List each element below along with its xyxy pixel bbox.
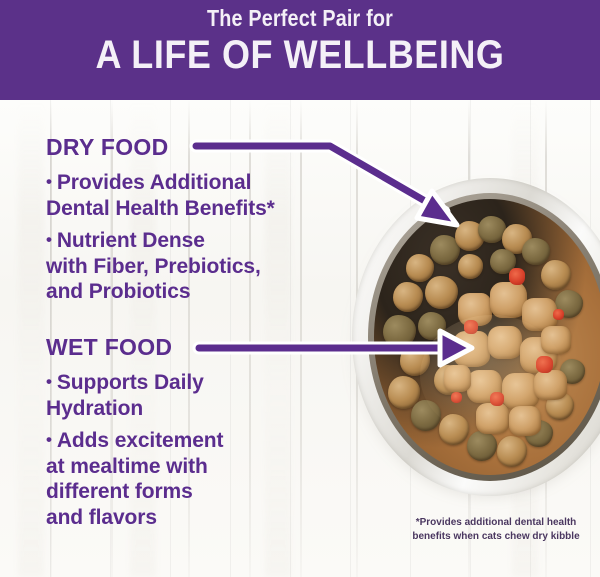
bullet-text: at mealtime with <box>46 454 223 480</box>
bullet-dot-icon: • <box>46 172 52 191</box>
footnote-line-1: *Provides additional dental health <box>396 516 596 530</box>
wet-food-label: WET FOOD <box>46 334 172 361</box>
banner-eyebrow: The Perfect Pair for <box>42 5 558 32</box>
bullet-text: Provides Additional <box>57 171 252 194</box>
bullet-text: different forms <box>46 479 223 505</box>
footnote-line-2: benefits when cats chew dry kibble <box>396 530 596 544</box>
food-bowl-image <box>340 168 600 504</box>
footnote: *Provides additional dental health benef… <box>396 516 596 543</box>
gravy-highlight <box>420 315 564 436</box>
dry-food-bullet-1: •Provides Additional Dental Health Benef… <box>46 170 275 221</box>
bowl-contents <box>374 199 600 475</box>
dry-food-bullet-2: •Nutrient Dense with Fiber, Prebiotics, … <box>46 228 261 305</box>
bullet-dot-icon: • <box>46 230 52 249</box>
bullet-text: with Fiber, Prebiotics, <box>46 254 261 280</box>
bullet-dot-icon: • <box>46 430 52 449</box>
bullet-text: and Probiotics <box>46 279 261 305</box>
wet-food-bullet-1: •Supports Daily Hydration <box>46 370 204 421</box>
header-banner: The Perfect Pair for A LIFE OF WELLBEING <box>0 0 600 100</box>
bullet-text: Supports Daily <box>57 371 204 394</box>
bullet-text: Dental Health Benefits* <box>46 196 275 222</box>
bullet-text: Adds excitement <box>57 429 224 452</box>
bullet-text: Hydration <box>46 396 204 422</box>
wet-food-bullet-2: •Adds excitement at mealtime with differ… <box>46 428 223 530</box>
dry-food-label: DRY FOOD <box>46 134 169 161</box>
infographic-canvas: The Perfect Pair for A LIFE OF WELLBEING <box>0 0 600 577</box>
banner-title: A LIFE OF WELLBEING <box>30 33 570 78</box>
bullet-dot-icon: • <box>46 372 52 391</box>
bullet-text: Nutrient Dense <box>57 229 205 252</box>
bullet-text: and flavors <box>46 505 223 531</box>
